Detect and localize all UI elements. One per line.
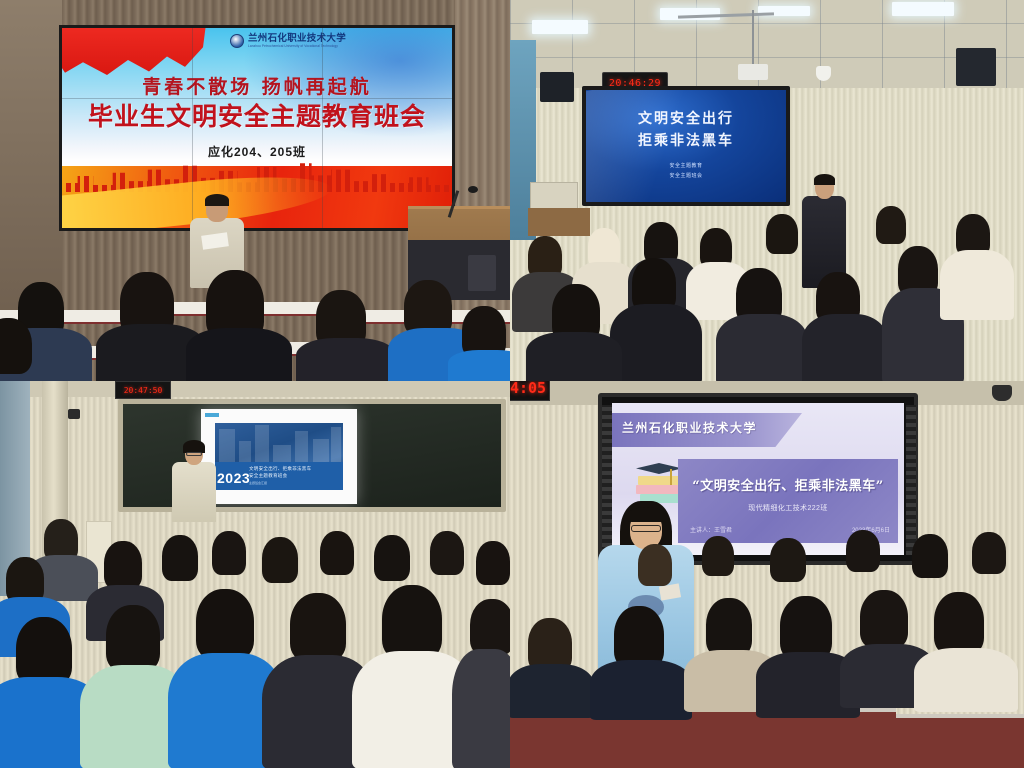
student-head bbox=[196, 589, 254, 659]
led-clock: 4:05 bbox=[510, 381, 550, 401]
logo-name-en: Lanzhou Petrochemical University of Voca… bbox=[248, 45, 346, 48]
student-head bbox=[382, 585, 442, 659]
cityscape-band bbox=[62, 166, 452, 228]
wall-camera-icon bbox=[992, 385, 1012, 401]
presenter-speaker bbox=[802, 176, 846, 286]
student-head bbox=[876, 206, 906, 244]
student-head bbox=[470, 599, 510, 655]
student-shoulders bbox=[452, 649, 510, 768]
ceiling-light bbox=[532, 20, 588, 34]
led-video-wall: 兰州石化职业技术大学 Lanzhou Petrochemical Univers… bbox=[62, 28, 452, 228]
projector-arm bbox=[752, 10, 754, 66]
slide-line-2: 拒乘非法黑车 bbox=[586, 130, 786, 150]
projection-slide: 文明安全出行 拒乘非法黑车 安全主题教育 安全主题班会 bbox=[586, 90, 786, 202]
slide-tag bbox=[205, 413, 219, 417]
student-seating-area bbox=[0, 266, 510, 381]
logo-name-cn: 兰州石化职业技术大学 bbox=[248, 34, 346, 44]
front-desk bbox=[528, 208, 590, 236]
student-head bbox=[320, 531, 354, 575]
wall-camera-icon bbox=[816, 66, 831, 81]
videowall-seam bbox=[62, 98, 452, 99]
student-seating-area bbox=[510, 648, 1024, 768]
whiteboard-bezel-right bbox=[906, 405, 916, 555]
student-head bbox=[262, 537, 298, 583]
slide-class-line: 应化204、205班 bbox=[62, 143, 452, 160]
panel-top-right: 20:46:29 文明安全出行 拒乘非法黑车 安全主题教育 安全主题班会 bbox=[510, 0, 1024, 381]
slide-title: 毕业生文明安全主题教育班会 bbox=[62, 97, 452, 133]
bench bbox=[896, 714, 1024, 768]
panel-top-left: 兰州石化职业技术大学 Lanzhou Petrochemical Univers… bbox=[0, 0, 510, 381]
videowall-seam bbox=[322, 28, 323, 228]
slide-sub-1: 安全主题教育 bbox=[586, 162, 786, 169]
student-shoulders bbox=[296, 338, 396, 381]
student-head bbox=[702, 536, 734, 576]
student-head bbox=[16, 617, 72, 685]
student-head bbox=[770, 538, 806, 582]
student-shoulders bbox=[186, 328, 292, 381]
student-head bbox=[780, 596, 832, 660]
student-shoulders bbox=[940, 250, 1014, 320]
panel-bottom-right: 4:05 兰州石化职业技术大学 “文明安全出行、拒乘非法黑车” 现代精细化工技术… bbox=[510, 381, 1024, 768]
student-head bbox=[972, 532, 1006, 574]
student-head bbox=[162, 535, 198, 581]
student-head bbox=[846, 530, 880, 572]
student-head bbox=[290, 593, 346, 661]
led-clock: 20:47:50 bbox=[115, 381, 171, 399]
slide-university: 兰州石化职业技术大学 bbox=[622, 419, 757, 436]
student-head bbox=[374, 535, 410, 581]
student-head bbox=[430, 531, 464, 575]
slide-subtitle: 安全主题教育班会 bbox=[249, 473, 287, 479]
wall-speaker-left bbox=[540, 72, 574, 102]
student-head bbox=[766, 214, 798, 254]
student-head bbox=[912, 534, 948, 578]
student-head bbox=[476, 541, 510, 585]
slide-host: 主讲人：王雪君 bbox=[690, 525, 732, 534]
student-shoulders bbox=[716, 314, 808, 381]
student-head bbox=[934, 592, 984, 654]
microphone-icon bbox=[468, 186, 478, 193]
wall-top-band bbox=[0, 381, 510, 397]
student-shoulders bbox=[448, 350, 510, 381]
student-head bbox=[106, 605, 160, 671]
student-head bbox=[212, 531, 246, 575]
student-shoulders bbox=[510, 664, 594, 718]
student-head bbox=[104, 541, 142, 589]
logo-mark-icon bbox=[230, 34, 244, 48]
led-clock-text: 20:47:50 bbox=[124, 386, 163, 395]
led-clock-text: 4:05 bbox=[510, 381, 546, 397]
student-shoulders bbox=[526, 332, 622, 381]
student-head bbox=[638, 544, 672, 586]
panel-bottom-left: 20:47:50 2023 文明安全出行、拒乘非法黑车 安全主题教育班会 bbox=[0, 381, 510, 768]
projector-icon bbox=[738, 64, 768, 80]
slide-sub-2: 安全主题班会 bbox=[586, 172, 786, 179]
university-logo: 兰州石化职业技术大学 Lanzhou Petrochemical Univers… bbox=[230, 34, 346, 48]
slide-class: 现代精细化工技术222班 bbox=[678, 503, 898, 513]
projected-slide: 2023 文明安全出行、拒乘非法黑车 安全主题教育班会 主题班会汇报 bbox=[201, 409, 357, 504]
slide-year: 2023 bbox=[217, 470, 250, 486]
slide-title: “文明安全出行、拒乘非法黑车” bbox=[678, 475, 898, 494]
student-shoulders bbox=[590, 660, 692, 720]
slide-headline: 青春不散场 扬帆再起航 bbox=[62, 72, 452, 99]
slide-title: 文明安全出行、拒乘非法黑车 bbox=[249, 466, 311, 472]
student-head bbox=[706, 598, 752, 656]
student-head bbox=[614, 606, 664, 668]
presenter-teacher bbox=[172, 443, 216, 521]
student-shoulders bbox=[802, 314, 888, 381]
slide-footnote: 主题班会汇报 bbox=[249, 481, 267, 485]
student-head bbox=[860, 590, 908, 648]
student-shoulders bbox=[610, 304, 702, 381]
wall-speaker-right bbox=[956, 48, 996, 86]
wall-camera-icon bbox=[68, 409, 80, 419]
photo-collage: 兰州石化职业技术大学 Lanzhou Petrochemical Univers… bbox=[0, 0, 1024, 768]
ceiling-light bbox=[892, 2, 954, 16]
student-shoulders bbox=[914, 648, 1018, 712]
slide-line-1: 文明安全出行 bbox=[586, 108, 786, 128]
